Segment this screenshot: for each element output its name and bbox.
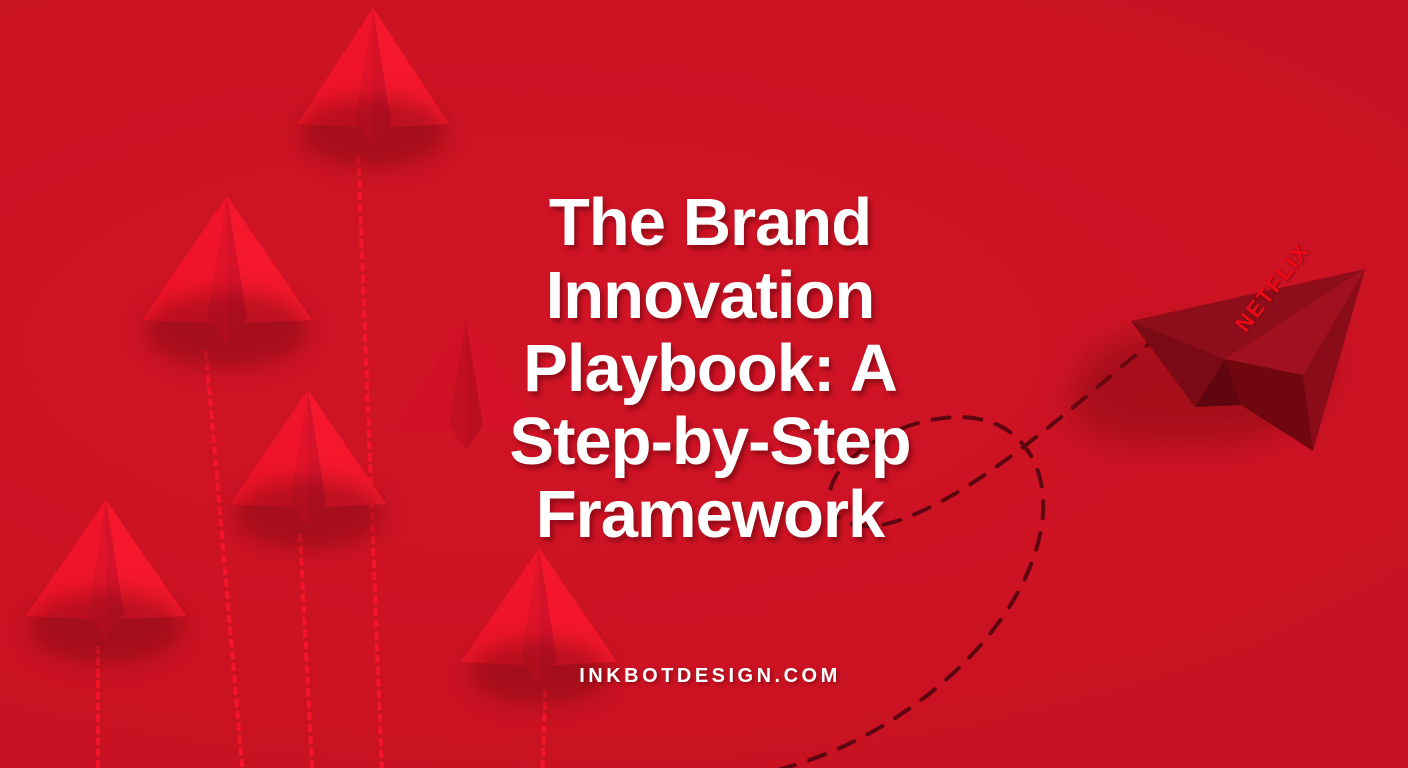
- netflix-paper-plane-icon: NETFLIX: [1045, 255, 1400, 465]
- paper-plane-icon: [138, 194, 316, 358]
- paper-plane-icon: [22, 498, 190, 654]
- paper-plane-icon: [293, 6, 453, 158]
- promo-banner: NETFLIX The Brand Innovation Playbook: A…: [0, 0, 1408, 768]
- paper-plane-icon: [226, 388, 390, 540]
- plane-shadow: [299, 97, 446, 167]
- plane-shadow: [233, 479, 384, 549]
- dashed-trail-icon: [96, 646, 100, 768]
- headline-block: The Brand Innovation Playbook: A Step-by…: [380, 186, 1040, 551]
- plane-shadow: [29, 592, 184, 664]
- dashed-trail-icon: [298, 534, 314, 768]
- page-title: The Brand Innovation Playbook: A Step-by…: [380, 186, 1040, 551]
- plane-shadow: [145, 292, 309, 367]
- site-url-label: INKBOTDESIGN.COM: [380, 665, 1040, 688]
